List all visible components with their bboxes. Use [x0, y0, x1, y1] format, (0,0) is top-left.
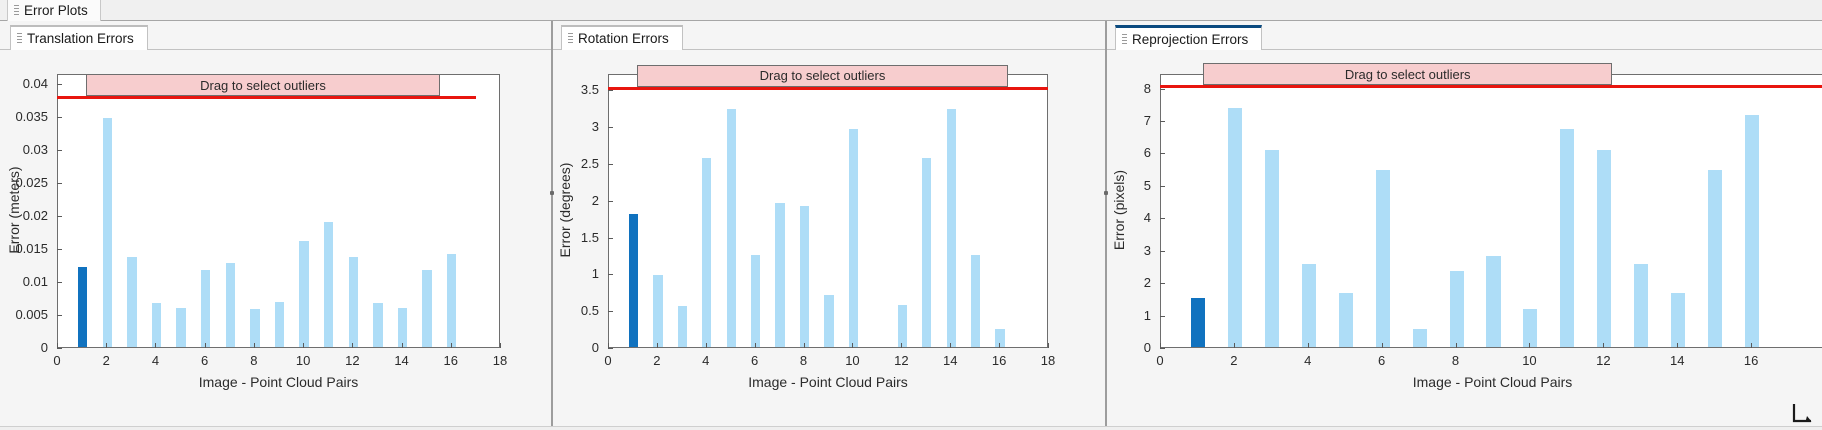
- y-axis-tick-mark: [1160, 218, 1165, 219]
- y-axis-tick-mark: [608, 238, 613, 239]
- bar[interactable]: [849, 129, 858, 347]
- bar-series: [58, 75, 499, 347]
- bar[interactable]: [250, 309, 259, 347]
- x-axis-tick-mark: [352, 343, 353, 348]
- bar[interactable]: [678, 306, 687, 347]
- outlier-threshold-line[interactable]: [57, 96, 476, 99]
- x-axis-tick-label: 6: [740, 354, 770, 367]
- drag-grip-icon[interactable]: [17, 33, 22, 44]
- panel-tabstrip-2: Rotation Errors: [551, 21, 1105, 50]
- x-axis-tick-label: 2: [1219, 354, 1249, 367]
- bar[interactable]: [1302, 264, 1316, 347]
- resize-down-arrow-cursor-icon: [1790, 402, 1816, 428]
- x-axis-tick-label: 2: [642, 354, 672, 367]
- x-axis-tick-label: 8: [789, 354, 819, 367]
- x-axis-tick-label: 16: [436, 354, 466, 367]
- x-axis-tick-label: 18: [485, 354, 515, 367]
- y-axis-tick-mark: [608, 311, 613, 312]
- tab-label: Reprojection Errors: [1132, 32, 1248, 47]
- x-axis-tick-label: 16: [1736, 354, 1766, 367]
- x-axis-tick-mark: [657, 343, 658, 348]
- x-axis-tick-label: 14: [387, 354, 417, 367]
- y-axis-tick-mark: [57, 183, 62, 184]
- bar[interactable]: [324, 222, 333, 347]
- x-axis-tick-label: 12: [337, 354, 367, 367]
- x-axis-tick-label: 14: [935, 354, 965, 367]
- axes-area[interactable]: [57, 74, 500, 348]
- bar[interactable]: [447, 254, 456, 347]
- bar[interactable]: [1708, 170, 1722, 347]
- x-axis-tick-label: 10: [1514, 354, 1544, 367]
- y-axis-tick-mark: [57, 150, 62, 151]
- status-bar: [0, 426, 1822, 430]
- bar[interactable]: [398, 308, 407, 347]
- y-axis-label: Error (degrees): [557, 73, 573, 347]
- tab-rotation-errors[interactable]: Rotation Errors: [561, 25, 683, 50]
- y-axis-tick-mark: [608, 127, 613, 128]
- bar[interactable]: [1339, 293, 1353, 347]
- x-axis-tick-mark: [1048, 343, 1049, 348]
- x-axis-tick-label: 6: [190, 354, 220, 367]
- x-axis-tick-label: 12: [1588, 354, 1618, 367]
- bar[interactable]: [422, 270, 431, 347]
- x-axis-label: Image - Point Cloud Pairs: [608, 374, 1048, 390]
- y-axis-tick-mark: [57, 315, 62, 316]
- x-axis-tick-label: 8: [239, 354, 269, 367]
- x-axis-tick-mark: [1603, 343, 1604, 348]
- x-axis-tick-mark: [155, 343, 156, 348]
- outlier-selection-band[interactable]: Drag to select outliers: [637, 65, 1009, 87]
- bar[interactable]: [127, 257, 136, 347]
- x-axis-tick-mark: [608, 343, 609, 348]
- y-axis-tick-mark: [1160, 121, 1165, 122]
- x-axis-tick-label: 14: [1662, 354, 1692, 367]
- tab-label: Rotation Errors: [578, 31, 669, 46]
- x-axis-tick-mark: [106, 343, 107, 348]
- bar[interactable]: [1486, 256, 1500, 347]
- y-axis-tick-mark: [1160, 89, 1165, 90]
- x-axis-tick-mark: [706, 343, 707, 348]
- x-axis-tick-mark: [254, 343, 255, 348]
- x-axis-tick-mark: [303, 343, 304, 348]
- bar[interactable]: [824, 295, 833, 347]
- outlier-selection-band[interactable]: Drag to select outliers: [1203, 63, 1612, 85]
- panel-divider-2[interactable]: [1105, 21, 1107, 430]
- bar[interactable]: [898, 305, 907, 347]
- x-axis-tick-label: 10: [837, 354, 867, 367]
- y-axis-tick-mark: [1160, 251, 1165, 252]
- bar[interactable]: [1597, 150, 1611, 347]
- plot-reprojection-errors[interactable]: Drag to select outliers01234567802468101…: [1105, 50, 1822, 430]
- divider-handle-icon[interactable]: [550, 191, 554, 195]
- outlier-threshold-line[interactable]: [1160, 85, 1822, 88]
- bar-series: [1161, 75, 1822, 347]
- bar[interactable]: [1413, 329, 1427, 347]
- bar-selected[interactable]: [78, 267, 87, 347]
- x-axis-tick-mark: [1677, 343, 1678, 348]
- bar[interactable]: [1671, 293, 1685, 347]
- bar[interactable]: [201, 270, 210, 347]
- drag-grip-icon[interactable]: [14, 5, 19, 16]
- y-axis-tick-mark: [57, 84, 62, 85]
- bar[interactable]: [226, 263, 235, 347]
- bar[interactable]: [971, 255, 980, 347]
- y-axis-tick-mark: [57, 348, 62, 349]
- x-axis-tick-mark: [999, 343, 1000, 348]
- x-axis-tick-label: 4: [691, 354, 721, 367]
- y-axis-tick-mark: [608, 164, 613, 165]
- x-axis-tick-mark: [901, 343, 902, 348]
- x-axis-tick-mark: [1456, 343, 1457, 348]
- y-axis-tick-mark: [1160, 348, 1165, 349]
- x-axis-tick-label: 2: [91, 354, 121, 367]
- x-axis-tick-mark: [1160, 343, 1161, 348]
- x-axis-tick-mark: [1308, 343, 1309, 348]
- bar[interactable]: [1634, 264, 1648, 347]
- y-axis-tick-mark: [57, 282, 62, 283]
- x-axis-tick-label: 0: [42, 354, 72, 367]
- y-axis-tick-mark: [57, 216, 62, 217]
- bar-series: [609, 75, 1047, 347]
- x-axis-tick-label: 10: [288, 354, 318, 367]
- bar[interactable]: [1745, 115, 1759, 347]
- x-axis-tick-mark: [1234, 343, 1235, 348]
- bar[interactable]: [1560, 129, 1574, 347]
- x-axis-tick-mark: [1382, 343, 1383, 348]
- bar[interactable]: [1450, 271, 1464, 347]
- y-axis-tick-mark: [57, 117, 62, 118]
- x-axis-tick-label: 4: [140, 354, 170, 367]
- y-axis-tick-mark: [1160, 186, 1165, 187]
- outlier-band-label: Drag to select outliers: [1345, 67, 1471, 82]
- x-axis-tick-mark: [451, 343, 452, 348]
- y-axis-tick-mark: [608, 274, 613, 275]
- outlier-selection-band[interactable]: Drag to select outliers: [86, 74, 440, 96]
- bar[interactable]: [653, 275, 662, 347]
- x-axis-tick-mark: [57, 343, 58, 348]
- x-axis-tick-mark: [755, 343, 756, 348]
- panel-translation-errors: Translation Errors Drag to select outlie…: [0, 21, 551, 430]
- panel-divider-1[interactable]: [551, 21, 553, 430]
- tab-label: Translation Errors: [27, 31, 134, 46]
- x-axis-tick-mark: [950, 343, 951, 348]
- y-axis-tick-mark: [1160, 316, 1165, 317]
- bar[interactable]: [947, 109, 956, 347]
- axes-area[interactable]: [1160, 74, 1822, 348]
- y-axis-label: Error (meters): [6, 73, 22, 347]
- x-axis-tick-mark: [1751, 343, 1752, 348]
- bar-selected[interactable]: [629, 214, 638, 347]
- divider-handle-icon[interactable]: [1104, 191, 1108, 195]
- bar[interactable]: [775, 203, 784, 347]
- x-axis-tick-mark: [402, 343, 403, 348]
- bar[interactable]: [103, 118, 112, 347]
- bar[interactable]: [1376, 170, 1390, 347]
- x-axis-tick-mark: [852, 343, 853, 348]
- x-axis-tick-mark: [1529, 343, 1530, 348]
- error-plots-window: Error Plots Translation Errors Drag to s…: [0, 0, 1822, 430]
- x-axis-label: Image - Point Cloud Pairs: [57, 374, 500, 390]
- drag-grip-icon[interactable]: [568, 33, 573, 44]
- panel-reprojection-errors: Reprojection Errors Drag to select outli…: [1105, 21, 1822, 430]
- y-axis-label: Error (pixels): [1111, 73, 1127, 347]
- x-axis-label: Image - Point Cloud Pairs: [1160, 374, 1822, 390]
- bar[interactable]: [349, 257, 358, 347]
- x-axis-tick-label: 18: [1033, 354, 1063, 367]
- panel-tabstrip-1: Translation Errors: [0, 21, 551, 50]
- axes-area[interactable]: [608, 74, 1048, 348]
- bar[interactable]: [751, 255, 760, 347]
- bar[interactable]: [275, 302, 284, 347]
- bar[interactable]: [152, 303, 161, 347]
- bar[interactable]: [1265, 150, 1279, 347]
- document-tab-error-plots[interactable]: Error Plots: [7, 0, 101, 21]
- bar[interactable]: [800, 206, 809, 347]
- x-axis-tick-mark: [500, 343, 501, 348]
- y-axis-tick-mark: [608, 90, 613, 91]
- plot-panels: Translation Errors Drag to select outlie…: [0, 21, 1822, 430]
- bar[interactable]: [1228, 108, 1242, 347]
- panel-rotation-errors: Rotation Errors Drag to select outliers0…: [551, 21, 1105, 430]
- x-axis-tick-label: 16: [984, 354, 1014, 367]
- outlier-band-label: Drag to select outliers: [200, 78, 326, 93]
- panel-tabstrip-3: Reprojection Errors: [1105, 21, 1822, 50]
- outlier-threshold-line[interactable]: [608, 87, 1048, 90]
- bar[interactable]: [176, 308, 185, 347]
- tab-translation-errors[interactable]: Translation Errors: [10, 25, 148, 50]
- x-axis-tick-label: 8: [1441, 354, 1471, 367]
- bar[interactable]: [702, 158, 711, 347]
- y-axis-tick-mark: [1160, 153, 1165, 154]
- x-axis-tick-label: 6: [1367, 354, 1397, 367]
- y-axis-tick-mark: [608, 201, 613, 202]
- y-axis-tick-mark: [608, 348, 613, 349]
- y-axis-tick-mark: [1160, 283, 1165, 284]
- x-axis-tick-label: 12: [886, 354, 916, 367]
- y-axis-tick-mark: [57, 249, 62, 250]
- bar[interactable]: [922, 158, 931, 347]
- bar[interactable]: [299, 241, 308, 347]
- x-axis-tick-label: 0: [593, 354, 623, 367]
- outlier-band-label: Drag to select outliers: [760, 68, 886, 83]
- document-tab-label: Error Plots: [24, 3, 88, 18]
- x-axis-tick-label: 0: [1145, 354, 1175, 367]
- bar[interactable]: [727, 109, 736, 347]
- x-axis-tick-mark: [804, 343, 805, 348]
- tab-reprojection-errors[interactable]: Reprojection Errors: [1115, 25, 1262, 50]
- document-tabstrip: Error Plots: [0, 0, 1822, 21]
- plot-translation-errors[interactable]: Drag to select outliers00.0050.010.0150.…: [0, 50, 551, 430]
- x-axis-tick-label: 4: [1293, 354, 1323, 367]
- bar[interactable]: [1523, 309, 1537, 347]
- drag-grip-icon[interactable]: [1122, 34, 1127, 45]
- bar[interactable]: [373, 303, 382, 347]
- x-axis-tick-mark: [205, 343, 206, 348]
- plot-rotation-errors[interactable]: Drag to select outliers00.511.522.533.50…: [551, 50, 1105, 430]
- bar-selected[interactable]: [1191, 298, 1205, 347]
